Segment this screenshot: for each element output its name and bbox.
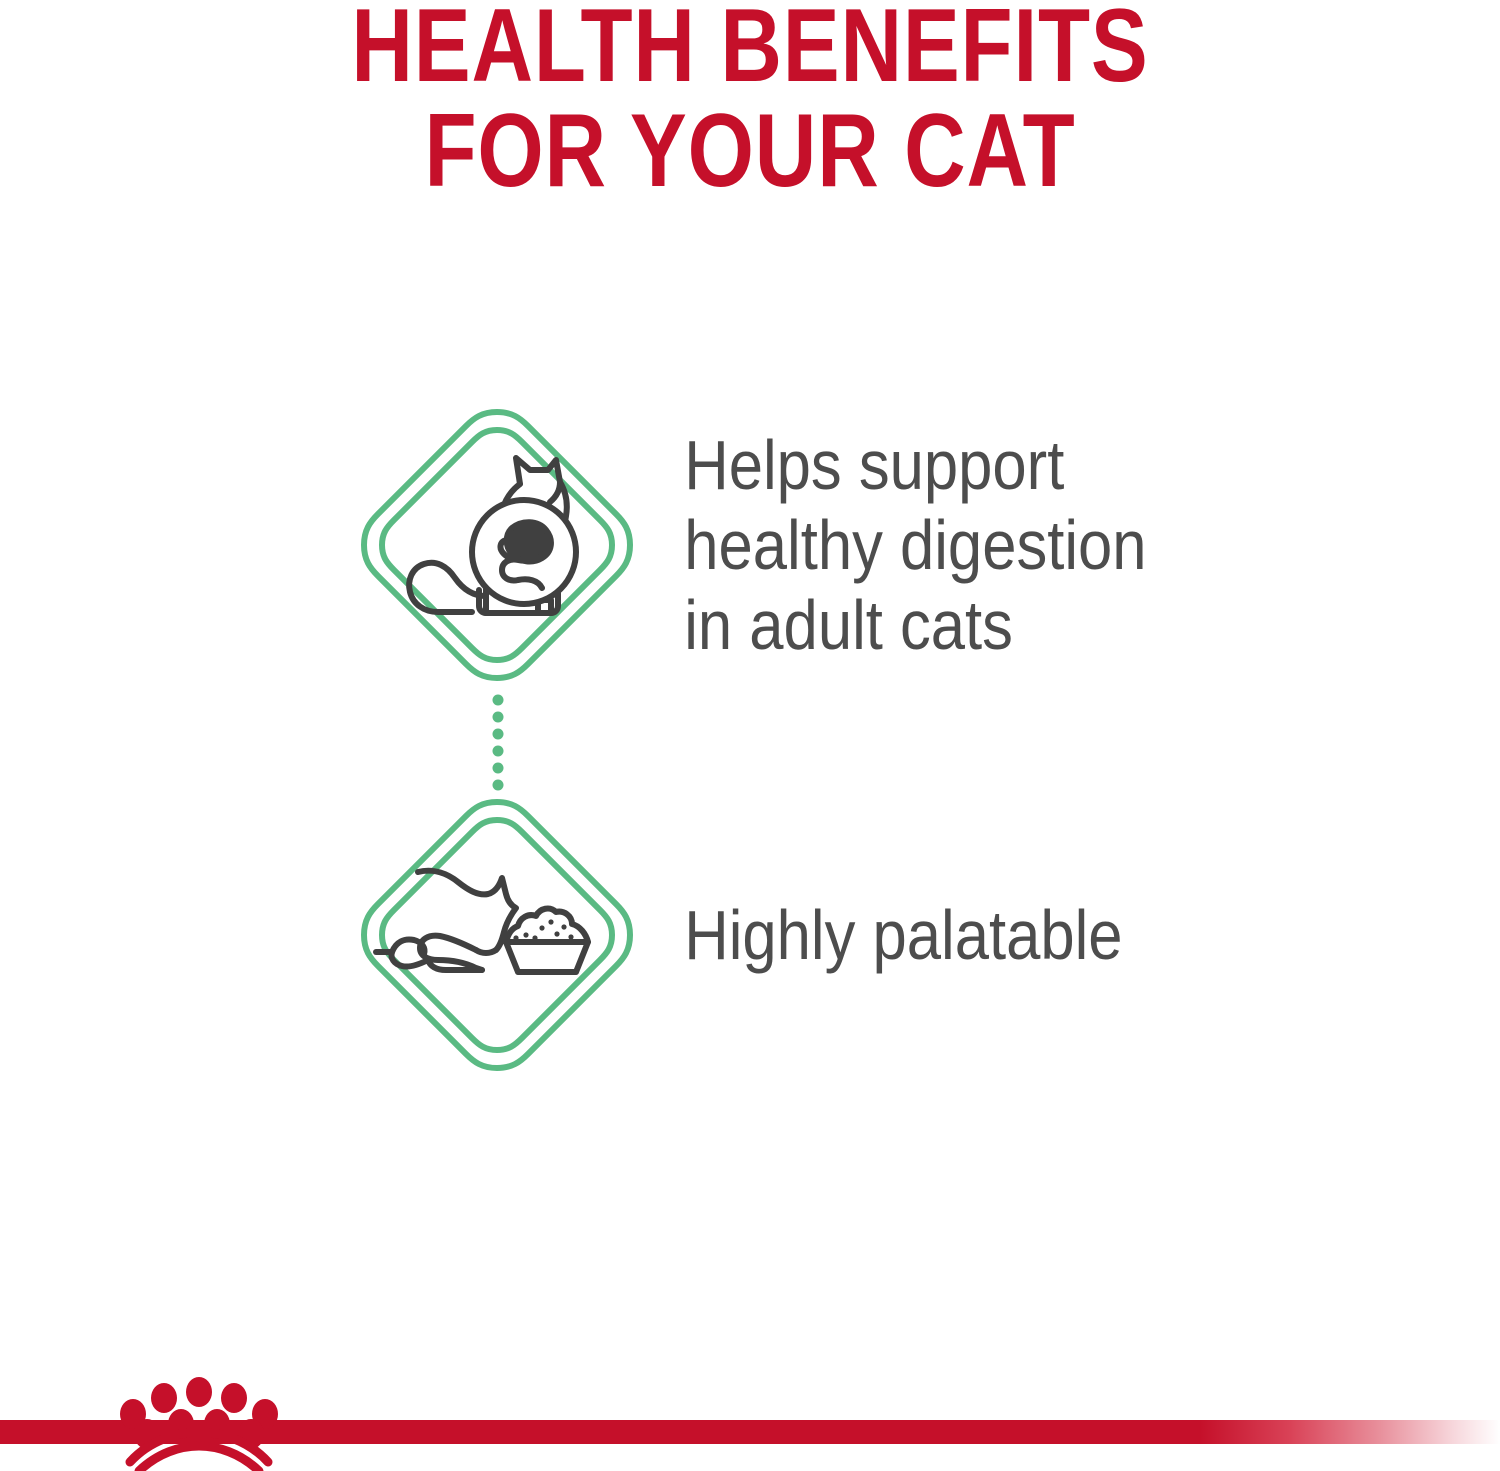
benefit-label: Highly palatable (642, 895, 1372, 975)
dotted-connector (488, 694, 508, 794)
health-benefits-page: HEALTH BENEFITS FOR YOUR CAT (0, 0, 1500, 1471)
royal-canin-crown-logo (106, 1374, 292, 1471)
benefit-label: Helps support healthy digestion in adult… (642, 425, 1372, 665)
cat-digestion-icon (352, 400, 642, 690)
benefit-item: Helps support healthy digestion in adult… (352, 400, 1472, 690)
benefits-list: Helps support healthy digestion in adult… (0, 0, 1500, 1471)
benefit-item: Highly palatable (352, 790, 1472, 1080)
cat-eating-bowl-icon (352, 790, 642, 1080)
